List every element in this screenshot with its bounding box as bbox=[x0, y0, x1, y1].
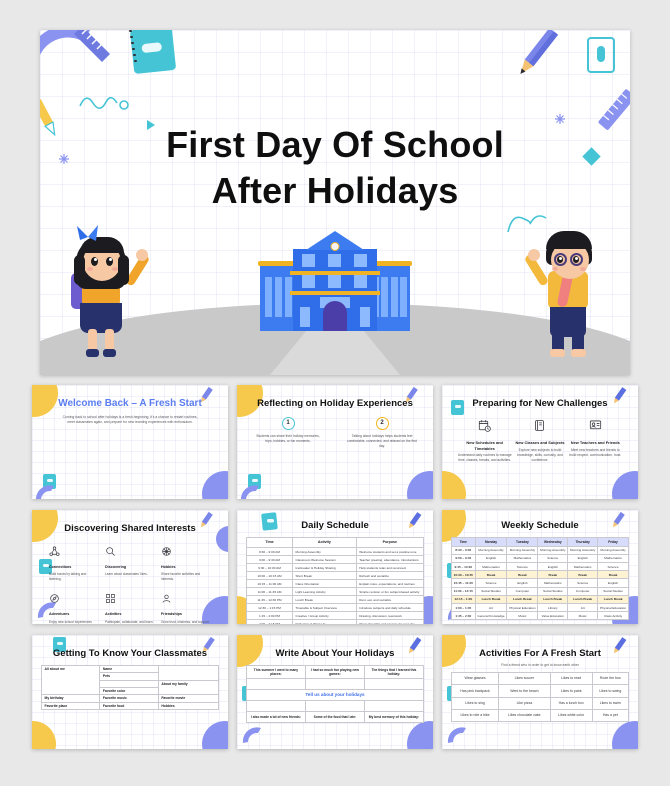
ruler-icon bbox=[241, 725, 265, 747]
answer-cell[interactable] bbox=[305, 701, 364, 712]
subject-cell: Art bbox=[475, 604, 507, 612]
feature-text: Learn about classmates' likes. bbox=[105, 572, 155, 577]
activities-grid-table: Wear glassesLikes soccerLikes to readRod… bbox=[451, 672, 629, 722]
table-row: 11:45 – 12:30 PMLunch BreakRest, eat, an… bbox=[247, 596, 424, 604]
subject-cell: Physical Education bbox=[598, 604, 629, 612]
boy-student-icon bbox=[530, 229, 608, 357]
feature-row: New Schedules and Timetables Understand … bbox=[451, 419, 629, 464]
feature-item: Friendships Grow trust, kindness, and su… bbox=[161, 591, 211, 624]
calendar-clock-icon bbox=[458, 419, 512, 437]
table-cell: Favorite color bbox=[100, 687, 158, 694]
purple-blob bbox=[407, 471, 433, 499]
activity-cell: Reflection & Wrap-Up bbox=[293, 620, 357, 624]
prompt-cell: I had so much fun playing new games: bbox=[305, 665, 364, 679]
table-row: Likes to singLike pizzaHas a lunch boxLi… bbox=[452, 697, 629, 709]
column-header: Time bbox=[247, 537, 293, 547]
time-cell: 12:30 – 1:15 PM bbox=[247, 604, 293, 612]
subject-cell: Mathematics bbox=[475, 563, 507, 571]
slide-title: Discovering Shared Interests bbox=[41, 523, 219, 535]
feature-title: Connections bbox=[49, 565, 99, 570]
ruler-icon bbox=[34, 483, 60, 499]
activity-cell: Short Break bbox=[293, 572, 357, 580]
column-header: Activity bbox=[293, 537, 357, 547]
subject-cell: Mathematics bbox=[598, 554, 629, 562]
notebook-icon bbox=[40, 473, 58, 493]
weekly-schedule-body: 8:30 – 9:00Morning AssemblyMorning Assem… bbox=[452, 546, 629, 620]
feature-text: Share favorite activities and interests. bbox=[161, 572, 211, 582]
subject-cell: Value Education bbox=[538, 612, 568, 620]
activity-cell[interactable]: Likes to read bbox=[550, 672, 592, 684]
activity-cell: Morning Assembly bbox=[293, 548, 357, 556]
list-item-text: Students can share their holiday memorie… bbox=[253, 434, 323, 445]
subject-cell: Library bbox=[538, 604, 568, 612]
feature-title: New Teachers and Friends bbox=[568, 440, 622, 446]
subject-cell: Science bbox=[568, 579, 598, 587]
step-number-badge: 2 bbox=[376, 417, 389, 430]
time-cell: 12:15 – 1:00 bbox=[452, 595, 476, 603]
subject-cell: English bbox=[475, 554, 507, 562]
time-cell: 11:45 – 12:30 PM bbox=[247, 596, 293, 604]
prompt-cell: Some of the food that I ate: bbox=[305, 712, 364, 723]
purpose-cell: Refresh and socialize bbox=[356, 572, 423, 580]
slide-welcome-back[interactable]: Welcome Back – A Fresh Start Coming back… bbox=[32, 385, 228, 499]
purple-blob bbox=[202, 721, 228, 749]
activity-cell[interactable]: Rode the bus bbox=[592, 672, 628, 684]
answer-cell[interactable] bbox=[247, 701, 306, 712]
slide-title: Write About Your Holidays bbox=[246, 648, 424, 660]
feature-item: Adventures Enjoy new school experiences … bbox=[49, 591, 99, 624]
yellow-blob bbox=[32, 721, 56, 749]
compass-icon bbox=[49, 591, 99, 609]
network-icon bbox=[49, 544, 99, 562]
subject-cell: Social Studies bbox=[598, 587, 629, 595]
time-cell: 9:45 – 10:30 bbox=[452, 563, 476, 571]
answer-cell[interactable] bbox=[247, 679, 306, 690]
feature-item: Discovering Learn about classmates' like… bbox=[105, 544, 155, 583]
table-row: Favorite place Favorite food Hobbies bbox=[42, 702, 219, 709]
table-cell: Pets bbox=[100, 673, 158, 680]
activity-cell[interactable]: Likes to swing bbox=[592, 685, 628, 697]
teacher-board-icon bbox=[568, 419, 622, 437]
table-cell bbox=[158, 665, 218, 680]
girl-student-icon bbox=[68, 229, 146, 357]
feature-title: Discovering bbox=[105, 565, 155, 570]
worksheet-banner: Tell us about your holidays bbox=[247, 690, 424, 701]
time-cell: 10:15 – 11:00 AM bbox=[247, 580, 293, 588]
subject-cell: English bbox=[507, 579, 538, 587]
book-icon bbox=[513, 419, 567, 437]
feature-item: Hobbies Share favorite activities and in… bbox=[161, 544, 211, 583]
feature-title: Activities bbox=[105, 612, 155, 617]
page-title: First Day Of School After Holidays bbox=[40, 122, 630, 214]
hero-title-line-1: First Day Of School bbox=[40, 122, 630, 168]
subject-cell: Music bbox=[507, 612, 538, 620]
table-row: 9:45 – 10:30MathematicsScienceEnglishMat… bbox=[452, 563, 629, 571]
subject-cell: Break bbox=[507, 571, 538, 579]
purpose-cell: Help students relax and reconnect bbox=[356, 564, 423, 572]
yellow-blob bbox=[442, 471, 466, 499]
daily-schedule-table: Time Activity Purpose 8:30 – 9:00 AMMorn… bbox=[246, 537, 424, 624]
table-cell: My birthday bbox=[42, 695, 100, 702]
table-cell: Favorite music bbox=[100, 695, 158, 702]
subject-cell: Social Studies bbox=[475, 587, 507, 595]
table-row: This summer I went to many places: I had… bbox=[247, 665, 424, 679]
purpose-cell: Share thoughts and prepare for next day bbox=[356, 620, 423, 624]
numbered-list: 1 Students can share their holiday memor… bbox=[246, 417, 424, 450]
activity-cell: Icebreaker & Holiday Sharing bbox=[293, 564, 357, 572]
answer-cell[interactable] bbox=[364, 679, 423, 690]
table-cell: Favorite movie bbox=[158, 695, 218, 702]
subject-cell: Morning Assembly bbox=[598, 546, 629, 554]
purpose-cell: Welcome students and set a positive tone bbox=[356, 548, 423, 556]
table-row: Wear glassesLikes soccerLikes to readRod… bbox=[452, 672, 629, 684]
weekly-schedule-table: TimeMondayTuesdayWednesdayThursdayFriday… bbox=[451, 537, 629, 621]
purpose-cell: Simple revision or fun subject-based act… bbox=[356, 588, 423, 596]
subject-cell: Morning Assembly bbox=[475, 546, 507, 554]
table-cell: Favorite food bbox=[100, 702, 158, 709]
magnifier-icon bbox=[105, 544, 155, 562]
activity-cell: Classroom Welcome Session bbox=[293, 556, 357, 564]
activity-cell[interactable]: Likes to swim bbox=[592, 697, 628, 709]
activity-cell[interactable]: Likes chocolate cake bbox=[499, 709, 551, 721]
feature-title: New Schedules and Timetables bbox=[458, 440, 512, 451]
activity-cell[interactable]: Likes soccer bbox=[499, 672, 551, 684]
subject-cell: Lunch Break bbox=[538, 595, 568, 603]
time-cell: 1:15 – 2:00 PM bbox=[247, 612, 293, 620]
table-row: 1:00 – 1:45ArtPhysical EducationLibraryA… bbox=[452, 604, 629, 612]
slide-activities-fresh-start[interactable]: Activities For A Fresh Start Find a frie… bbox=[442, 635, 638, 749]
table-row: 10:00 – 10:15 AMShort BreakRefresh and s… bbox=[247, 572, 424, 580]
table-row: 9:00 – 9:30 AMClassroom Welcome SessionT… bbox=[247, 556, 424, 564]
purpose-cell: Introduce subjects and daily schedule bbox=[356, 604, 423, 612]
feature-item: New Schedules and Timetables Understand … bbox=[458, 419, 512, 464]
table-row: 2:00 – 2:15 PMReflection & Wrap-UpShare … bbox=[247, 620, 424, 624]
purpose-cell: Rest, eat, and socialize bbox=[356, 596, 423, 604]
subject-cell: Lunch Break bbox=[598, 595, 629, 603]
hero-slide[interactable]: First Day Of School After Holidays bbox=[40, 30, 630, 375]
subject-cell: Science bbox=[538, 554, 568, 562]
sharpener-icon bbox=[580, 34, 624, 80]
activity-cell[interactable]: Has a lunch box bbox=[550, 697, 592, 709]
slide-body: Coming back to school after holidays is … bbox=[60, 415, 200, 426]
prompt-cell: I also made a lot of new friends: bbox=[247, 712, 306, 723]
squiggle-icon bbox=[78, 92, 136, 118]
answer-cell[interactable] bbox=[364, 701, 423, 712]
ruler-icon bbox=[239, 483, 265, 499]
table-cell: All about me bbox=[42, 665, 100, 694]
time-cell: 10:00 – 10:15 AM bbox=[247, 572, 293, 580]
slide-daily-schedule[interactable]: Daily Schedule Time Activity Purpose 8:3… bbox=[237, 510, 433, 624]
slide-title: Preparing for New Challenges bbox=[451, 398, 629, 410]
ruler-icon bbox=[40, 30, 112, 96]
subject-cell: Lunch Break bbox=[568, 595, 598, 603]
subject-cell: Physical Education bbox=[507, 604, 538, 612]
puzzle-icon bbox=[161, 544, 211, 562]
subject-cell: Lunch Break bbox=[507, 595, 538, 603]
activity-cell[interactable]: Likes to sing bbox=[452, 697, 499, 709]
subject-cell: Social Studies bbox=[538, 587, 568, 595]
table-row: 8:30 – 9:00Morning AssemblyMorning Assem… bbox=[452, 546, 629, 554]
purple-blob bbox=[202, 471, 228, 499]
table-cell: Hobbies bbox=[158, 702, 218, 709]
subject-cell: Morning Assembly bbox=[507, 546, 538, 554]
holidays-worksheet-table: This summer I went to many places: I had… bbox=[246, 665, 424, 724]
subject-cell: Lunch Break bbox=[475, 595, 507, 603]
activity-cell: Class Orientation bbox=[293, 580, 357, 588]
table-row: 1:15 – 2:00 PMCreative / Group ActivityD… bbox=[247, 612, 424, 620]
slide-title: Reflecting on Holiday Experiences bbox=[246, 398, 424, 410]
table-row bbox=[247, 701, 424, 712]
table-row: 8:30 – 9:00 AMMorning AssemblyWelcome st… bbox=[247, 548, 424, 556]
feature-item: New Classes and Subjects Explore new sub… bbox=[513, 419, 567, 464]
subject-cell: Morning Assembly bbox=[538, 546, 568, 554]
table-row: 12:30 – 1:15 PMTimetable & Subject Overv… bbox=[247, 604, 424, 612]
table-row: 11:30 – 12:15Social StudiesComputerSocia… bbox=[452, 587, 629, 595]
ruler-icon bbox=[446, 725, 470, 747]
activity-cell[interactable]: Has a pet bbox=[592, 709, 628, 721]
feature-text: Grow trust, kindness, and support. bbox=[161, 620, 211, 624]
slide-subtitle: Find a friend who in order to get to kno… bbox=[451, 663, 629, 667]
feature-title: Hobbies bbox=[161, 565, 211, 570]
table-row: All about me Name bbox=[42, 665, 219, 672]
column-header: Thursday bbox=[568, 537, 598, 546]
handshake-icon bbox=[161, 591, 211, 609]
table-cell: About my family bbox=[158, 680, 218, 695]
feature-item: Connections Build bonds by talking and l… bbox=[49, 544, 99, 583]
purple-blob bbox=[407, 721, 433, 749]
table-row bbox=[247, 679, 424, 690]
subject-cell: General Knowledge bbox=[475, 612, 507, 620]
time-cell: 1:45 – 2:30 bbox=[452, 612, 476, 620]
column-header: Tuesday bbox=[507, 537, 538, 546]
table-row: 9:00 – 9:45EnglishMathematicsScienceEngl… bbox=[452, 554, 629, 562]
group-icon bbox=[105, 591, 155, 609]
time-cell: 9:00 – 9:30 AM bbox=[247, 556, 293, 564]
prompt-cell: This summer I went to many places: bbox=[247, 665, 306, 679]
table-row: 10:30 – 10:45BreakBreakBreakBreakBreak bbox=[452, 571, 629, 579]
feature-text: Build bonds by talking and listening. bbox=[49, 572, 99, 582]
purpose-cell: Explain rules, expectations, and routine… bbox=[356, 580, 423, 588]
feature-item: New Teachers and Friends Meet new teache… bbox=[568, 419, 622, 464]
subject-cell: English bbox=[568, 554, 598, 562]
slide-getting-to-know[interactable]: Getting To Know Your Classmates All abou… bbox=[32, 635, 228, 749]
classmates-table: All about me Name Pets About my family F… bbox=[41, 665, 219, 710]
prompt-cell: My best memory of this holiday: bbox=[364, 712, 423, 723]
feature-text: Enjoy new school experiences together. bbox=[49, 620, 99, 624]
purple-blob bbox=[612, 471, 638, 499]
feature-title: Friendships bbox=[161, 612, 211, 617]
table-row: 10:15 – 11:00 AMClass OrientationExplain… bbox=[247, 580, 424, 588]
table-row: Likes to ride a bikeLikes chocolate cake… bbox=[452, 709, 629, 721]
table-cell: Name bbox=[100, 665, 158, 672]
feature-text: Participate, collaborate, and learn. bbox=[105, 620, 155, 624]
slide-preparing-challenges[interactable]: Preparing for New Challenges New Schedul… bbox=[442, 385, 638, 499]
table-row: 9:30 – 10:00 AMIcebreaker & Holiday Shar… bbox=[247, 564, 424, 572]
feature-grid: Connections Build bonds by talking and l… bbox=[41, 544, 219, 624]
activities-grid-body: Wear glassesLikes soccerLikes to readRod… bbox=[452, 672, 629, 721]
feature-title: Adventures bbox=[49, 612, 99, 617]
subject-cell: Break bbox=[598, 571, 629, 579]
subject-cell: Class Activity bbox=[598, 612, 629, 620]
list-item-text: Talking about holidays helps students fe… bbox=[347, 434, 417, 450]
table-header-row: Time Activity Purpose bbox=[247, 537, 424, 547]
step-number-badge: 1 bbox=[282, 417, 295, 430]
column-header: Friday bbox=[598, 537, 629, 546]
column-header: Wednesday bbox=[538, 537, 568, 546]
table-row: My birthday Favorite music Favorite movi… bbox=[42, 695, 219, 702]
activity-cell[interactable]: Went to the beach bbox=[499, 685, 551, 697]
subject-cell: Science bbox=[507, 563, 538, 571]
table-row: Has pink backpackWent to the beachLikes … bbox=[452, 685, 629, 697]
prompt-cell: The things that I learned this holiday: bbox=[364, 665, 423, 679]
column-header: Purpose bbox=[356, 537, 423, 547]
subject-cell: Art bbox=[568, 604, 598, 612]
table-row: 10:45 – 11:30ScienceEnglishMathematicsSc… bbox=[452, 579, 629, 587]
purpose-cell: Teacher greeting, attendance, introducti… bbox=[356, 556, 423, 564]
subject-cell: English bbox=[598, 579, 629, 587]
slide-title: Welcome Back – A Fresh Start bbox=[41, 398, 219, 411]
time-cell: 10:45 – 11:30 bbox=[452, 579, 476, 587]
activity-cell[interactable]: Has pink backpack bbox=[452, 685, 499, 697]
slide-title: Weekly Schedule bbox=[451, 520, 629, 532]
notebook-icon bbox=[245, 473, 263, 493]
table-row: I also made a lot of new friends: Some o… bbox=[247, 712, 424, 723]
activity-cell: Creative / Group Activity bbox=[293, 612, 357, 620]
pencil-icon bbox=[502, 30, 564, 86]
subject-cell: Mathematics bbox=[507, 554, 538, 562]
activity-cell: Timetable & Subject Overview bbox=[293, 604, 357, 612]
slide-weekly-schedule[interactable]: Weekly Schedule TimeMondayTuesdayWednesd… bbox=[442, 510, 638, 624]
time-cell: 9:00 – 9:45 bbox=[452, 554, 476, 562]
feature-text: Understand daily routines to manage time… bbox=[458, 453, 512, 464]
slide-reflecting-holiday[interactable]: Reflecting on Holiday Experiences 1 Stud… bbox=[237, 385, 433, 499]
daily-schedule-body: 8:30 – 9:00 AMMorning AssemblyWelcome st… bbox=[247, 548, 424, 624]
column-header: Monday bbox=[475, 537, 507, 546]
slide-title: Getting To Know Your Classmates bbox=[41, 648, 219, 660]
table-row: 1:45 – 2:30General KnowledgeMusicValue E… bbox=[452, 612, 629, 620]
school-building-icon bbox=[260, 233, 410, 331]
feature-text: Meet new teachers and friends to build r… bbox=[568, 448, 622, 459]
activity-cell[interactable]: Likes white color bbox=[550, 709, 592, 721]
subject-cell: Break bbox=[475, 571, 507, 579]
list-item: 2 Talking about holidays helps students … bbox=[347, 417, 417, 450]
answer-cell[interactable] bbox=[305, 679, 364, 690]
presentation-preview-page: First Day Of School After Holidays bbox=[0, 0, 670, 786]
time-cell: 11:00 – 11:45 AM bbox=[247, 588, 293, 596]
feature-title: New Classes and Subjects bbox=[513, 440, 567, 446]
time-cell: 10:30 – 10:45 bbox=[452, 571, 476, 579]
activity-cell: Light Learning Activity bbox=[293, 588, 357, 596]
time-cell: 9:30 – 10:00 AM bbox=[247, 564, 293, 572]
subject-cell: English bbox=[538, 563, 568, 571]
notebook-icon bbox=[123, 30, 181, 82]
activity-cell: Lunch Break bbox=[293, 596, 357, 604]
table-row: 12:15 – 1:00Lunch BreakLunch BreakLunch … bbox=[452, 595, 629, 603]
slide-title: Activities For A Fresh Start bbox=[451, 648, 629, 660]
table-cell: Favorite place bbox=[42, 702, 100, 709]
time-cell: 8:30 – 9:00 bbox=[452, 546, 476, 554]
subject-cell: Break bbox=[538, 571, 568, 579]
subject-cell: Mathematics bbox=[538, 579, 568, 587]
subject-cell: Science bbox=[598, 563, 629, 571]
subject-cell: Music bbox=[568, 612, 598, 620]
subject-cell: Computer bbox=[507, 587, 538, 595]
slide-shared-interests[interactable]: Discovering Shared Interests Connections… bbox=[32, 510, 228, 624]
subject-cell: Mathematics bbox=[568, 563, 598, 571]
table-row: Tell us about your holidays bbox=[247, 690, 424, 701]
table-cell bbox=[100, 680, 158, 687]
column-header: Time bbox=[452, 537, 476, 546]
slide-write-holidays[interactable]: Write About Your Holidays This summer I … bbox=[237, 635, 433, 749]
activity-cell[interactable]: Like pizza bbox=[499, 697, 551, 709]
table-header-row: TimeMondayTuesdayWednesdayThursdayFriday bbox=[452, 537, 629, 546]
subject-cell: Science bbox=[475, 579, 507, 587]
time-cell: 1:00 – 1:45 bbox=[452, 604, 476, 612]
activity-cell[interactable]: Wear glasses bbox=[452, 672, 499, 684]
time-cell: 11:30 – 12:15 bbox=[452, 587, 476, 595]
slide-title: Daily Schedule bbox=[246, 520, 424, 532]
time-cell: 2:00 – 2:15 PM bbox=[247, 620, 293, 624]
feature-item: Activities Participate, collaborate, and… bbox=[105, 591, 155, 624]
subject-cell: Break bbox=[568, 571, 598, 579]
list-item: 1 Students can share their holiday memor… bbox=[253, 417, 323, 450]
feature-text: Explore new subjects to build knowledge,… bbox=[513, 448, 567, 464]
subject-cell: Computer bbox=[568, 587, 598, 595]
time-cell: 8:30 – 9:00 AM bbox=[247, 548, 293, 556]
hero-title-line-2: After Holidays bbox=[40, 168, 630, 214]
activity-cell[interactable]: Likes to paint bbox=[550, 685, 592, 697]
subject-cell: Morning Assembly bbox=[568, 546, 598, 554]
purple-blob bbox=[612, 721, 638, 749]
table-row: 11:00 – 11:45 AMLight Learning ActivityS… bbox=[247, 588, 424, 596]
purpose-cell: Drawing, discussion, teamwork bbox=[356, 612, 423, 620]
activity-cell[interactable]: Likes to ride a bike bbox=[452, 709, 499, 721]
